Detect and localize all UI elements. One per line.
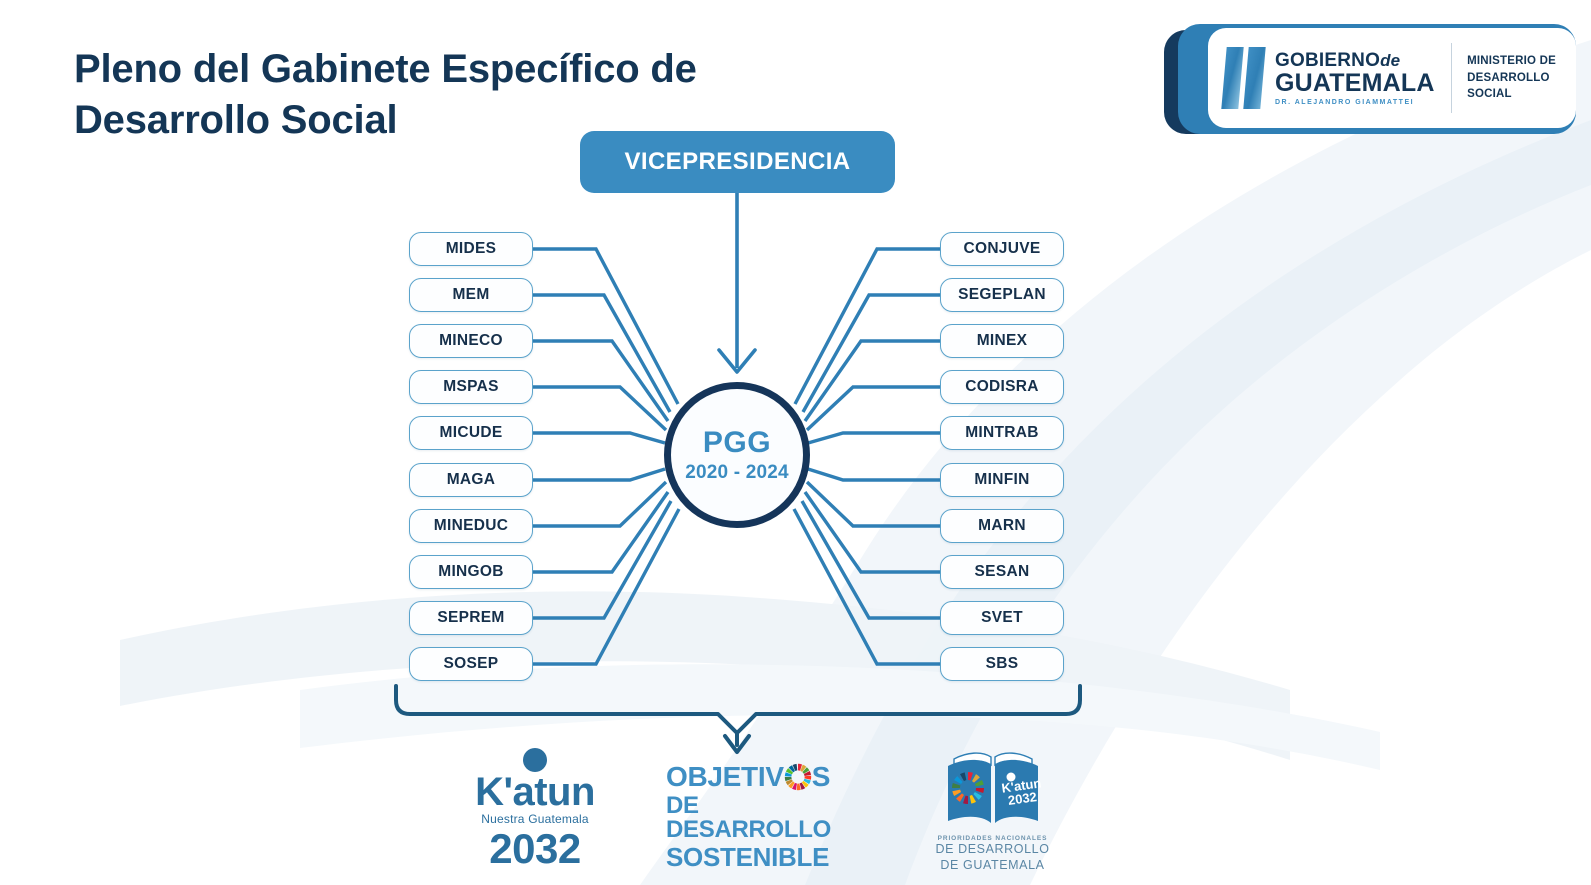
katun-2032-logo: K'atun Nuestra Guatemala 2032 <box>470 748 600 870</box>
gov-word-gobierno: GOBIERNO <box>1275 50 1380 71</box>
agency-box-mides[interactable]: MIDES <box>409 232 533 266</box>
ods-line2: DE DESARROLLO <box>666 794 846 842</box>
gobierno-de-guatemala-logo: GOBIERNOde GUATEMALA DR. ALEJANDRO GIAMM… <box>1156 16 1576 140</box>
agency-box-mspas[interactable]: MSPAS <box>409 370 533 404</box>
gov-logo-line1: GOBIERNOde <box>1275 51 1435 70</box>
agency-box-mintrab[interactable]: MINTRAB <box>940 416 1064 450</box>
gov-logo-text: GOBIERNOde GUATEMALA DR. ALEJANDRO GIAMM… <box>1275 51 1435 106</box>
agency-box-mineco[interactable]: MINECO <box>409 324 533 358</box>
ods-line1-post: S <box>812 763 830 791</box>
agency-box-micude[interactable]: MICUDE <box>409 416 533 450</box>
katun-wordmark: K'atun <box>470 773 600 811</box>
agency-box-seprem[interactable]: SEPREM <box>409 601 533 635</box>
slide-canvas: Pleno del Gabinete Específico de Desarro… <box>0 0 1591 885</box>
agency-box-codisra[interactable]: CODISRA <box>940 370 1064 404</box>
katun-year: 2032 <box>470 828 600 870</box>
gov-logo-line2: GUATEMALA <box>1275 71 1435 96</box>
agency-box-mineduc[interactable]: MINEDUC <box>409 509 533 543</box>
agency-box-sbs[interactable]: SBS <box>940 647 1064 681</box>
agency-box-sosep[interactable]: SOSEP <box>409 647 533 681</box>
agency-box-mem[interactable]: MEM <box>409 278 533 312</box>
agency-box-sesan[interactable]: SESAN <box>940 555 1064 589</box>
agency-box-minex[interactable]: MINEX <box>940 324 1064 358</box>
ods-logo: OBJETIV <box>666 762 846 870</box>
pgg-acronym: PGG <box>703 428 771 458</box>
pgg-center-node[interactable]: PGG 2020 - 2024 <box>664 382 810 528</box>
agency-box-segeplan[interactable]: SEGEPLAN <box>940 278 1064 312</box>
agency-box-mingob[interactable]: MINGOB <box>409 555 533 589</box>
sdg-wheel-icon <box>783 762 813 792</box>
gov-logo-president: DR. ALEJANDRO GIAMMATTEI <box>1275 99 1435 106</box>
katun-dot-icon <box>523 748 547 772</box>
prioridades-nacionales-logo: K'atun 2032 PRIORIDADES NACIONALES DE DE… <box>925 745 1060 873</box>
gov-word-de: de <box>1380 51 1400 70</box>
ods-line3: SOSTENIBLE <box>666 844 846 870</box>
vicepresidencia-node[interactable]: VICEPRESIDENCIA <box>580 131 895 193</box>
prioridades-line1: DE DESARROLLO <box>925 842 1060 858</box>
agency-box-marn[interactable]: MARN <box>940 509 1064 543</box>
prioridades-line2: DE GUATEMALA <box>925 858 1060 874</box>
ods-line1-pre: OBJETIV <box>666 763 784 791</box>
katun-tagline: Nuestra Guatemala <box>470 812 600 826</box>
agency-box-minfin[interactable]: MINFIN <box>940 463 1064 497</box>
agency-box-maga[interactable]: MAGA <box>409 463 533 497</box>
down-arrow-icon <box>719 193 755 372</box>
open-book-icon: K'atun 2032 <box>934 745 1052 827</box>
agency-box-conjuve[interactable]: CONJUVE <box>940 232 1064 266</box>
prioridades-caption: PRIORIDADES NACIONALES <box>925 835 1060 842</box>
pgg-period: 2020 - 2024 <box>685 463 789 482</box>
agency-box-svet[interactable]: SVET <box>940 601 1064 635</box>
logo-card: GOBIERNOde GUATEMALA DR. ALEJANDRO GIAMM… <box>1208 28 1576 128</box>
gov-pillars-icon <box>1224 47 1263 109</box>
brace-bracket-icon <box>396 686 1080 752</box>
ods-line1: OBJETIV <box>666 762 846 792</box>
ministry-label: MINISTERIO DE DESARROLLO SOCIAL <box>1467 53 1564 103</box>
